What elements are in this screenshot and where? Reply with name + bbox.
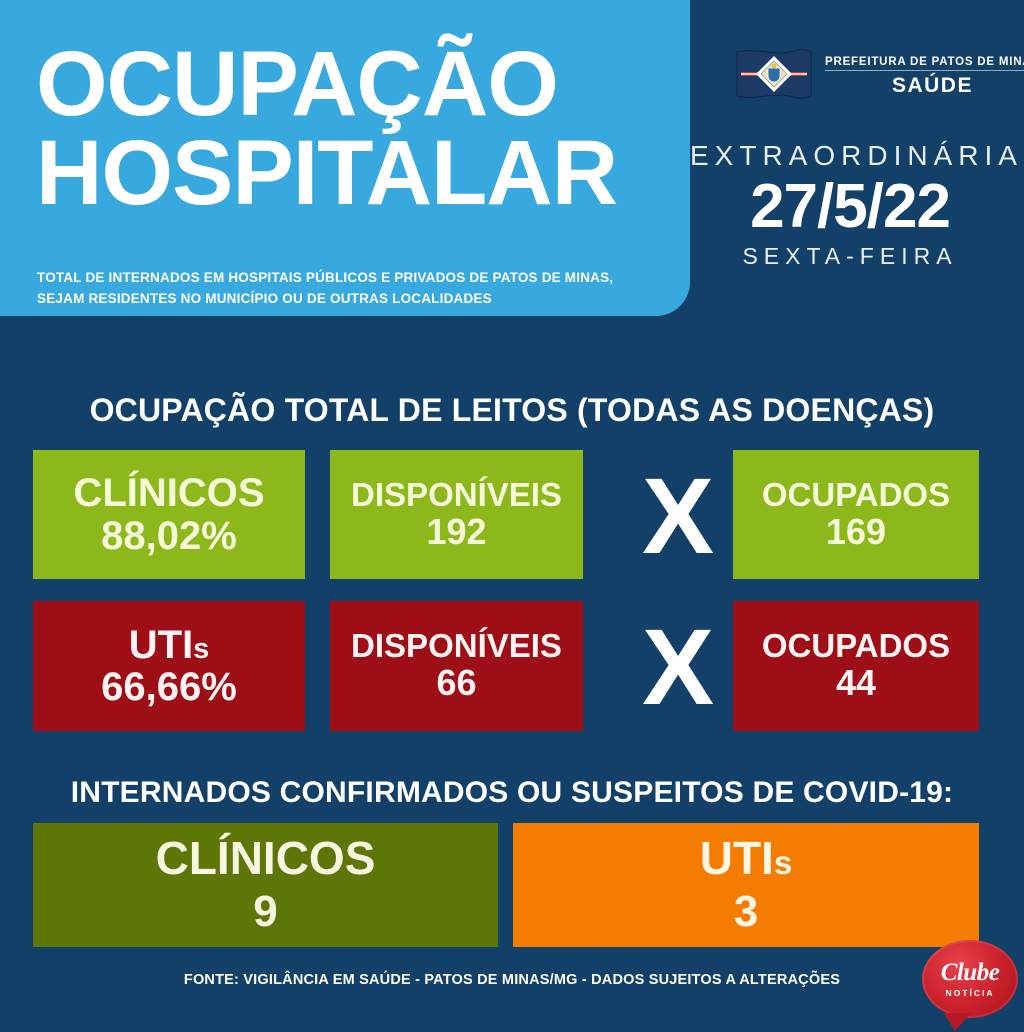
brand-organization: PREFEITURA DE PATOS DE MINAS <box>825 56 1024 71</box>
clinical-occupied-value: 169 <box>826 513 886 551</box>
stat-box-covid-clinical: CLÍNICOS 9 <box>33 823 498 947</box>
stat-box-icu-available: DISPONÍVEIS 66 <box>330 601 583 731</box>
covid-clinical-label: CLÍNICOS <box>156 834 376 883</box>
page-title-line-1: OCUPAÇÃO <box>36 40 676 129</box>
icu-available-value: 66 <box>436 664 476 702</box>
watermark-tagline: NOTÍCIA <box>946 988 995 998</box>
covid-icu-value: 3 <box>734 889 758 936</box>
bulletin-date-block: EXTRAORDINÁRIA 27/5/22 SEXTA-FEIRA <box>690 140 1010 270</box>
covid-icu-label-main: UTI <box>700 832 774 884</box>
clube-noticia-watermark: Clube NOTÍCIA <box>922 940 1018 1032</box>
clinical-label: CLÍNICOS <box>73 472 264 514</box>
stat-box-icu-occupancy: UTIs 66,66% <box>33 601 305 731</box>
covid-icu-label: UTIs <box>700 834 793 883</box>
page-subtitle-line-2: SEJAM RESIDENTES NO MUNICÍPIO OU DE OUTR… <box>37 289 657 310</box>
bulletin-kind: EXTRAORDINÁRIA <box>690 140 1010 172</box>
section-heading-total-beds: OCUPAÇÃO TOTAL DE LEITOS (TODAS AS DOENÇ… <box>0 392 1024 429</box>
page-title: OCUPAÇÃO HOSPITALAR <box>36 40 676 218</box>
stat-box-clinical-occupancy: CLÍNICOS 88,02% <box>33 450 305 579</box>
versus-separator-clinical: X <box>618 462 738 570</box>
stat-box-clinical-occupied: OCUPADOS 169 <box>733 450 979 579</box>
icu-occupied-value: 44 <box>836 664 876 702</box>
page-subtitle: TOTAL DE INTERNADOS EM HOSPITAIS PÚBLICO… <box>37 268 657 310</box>
page-title-line-2: HOSPITALAR <box>36 129 676 218</box>
clinical-available-label: DISPONÍVEIS <box>351 478 562 513</box>
patos-de-minas-flag-icon <box>735 46 813 108</box>
page-subtitle-line-1: TOTAL DE INTERNADOS EM HOSPITAIS PÚBLICO… <box>37 268 657 289</box>
brand-text: PREFEITURA DE PATOS DE MINAS SAÚDE <box>825 56 1024 98</box>
stat-box-clinical-available: DISPONÍVEIS 192 <box>330 450 583 579</box>
icu-available-label: DISPONÍVEIS <box>351 629 562 664</box>
icu-label-suffix: s <box>193 633 209 665</box>
clinical-occupied-label: OCUPADOS <box>762 478 950 513</box>
source-note: FONTE: VIGILÂNCIA EM SAÚDE - PATOS DE MI… <box>0 972 1024 988</box>
bulletin-date: 27/5/22 <box>690 174 1010 239</box>
bulletin-weekday: SEXTA-FEIRA <box>690 243 1010 270</box>
stat-box-covid-icu: UTIs 3 <box>513 823 979 947</box>
watermark-name: Clube <box>941 960 1000 985</box>
section-heading-covid: INTERNADOS CONFIRMADOS OU SUSPEITOS DE C… <box>0 776 1024 810</box>
stat-box-icu-occupied: OCUPADOS 44 <box>733 601 979 731</box>
brand-lockup: PREFEITURA DE PATOS DE MINAS SAÚDE <box>735 46 1024 108</box>
covid-clinical-value: 9 <box>253 889 277 936</box>
speech-bubble-icon: Clube NOTÍCIA <box>922 940 1018 1018</box>
header-panel: OCUPAÇÃO HOSPITALAR TOTAL DE INTERNADOS … <box>0 0 690 316</box>
icu-label-main: UTI <box>129 623 193 667</box>
brand-department: SAÚDE <box>892 74 973 98</box>
clinical-occupancy-rate: 88,02% <box>101 515 237 557</box>
covid-icu-label-suffix: s <box>774 845 792 882</box>
icu-label: UTIs <box>129 624 209 666</box>
icu-occupied-label: OCUPADOS <box>762 629 950 664</box>
icu-occupancy-rate: 66,66% <box>101 666 237 708</box>
infographic-root: OCUPAÇÃO HOSPITALAR TOTAL DE INTERNADOS … <box>0 0 1024 1024</box>
versus-separator-icu: X <box>618 613 738 721</box>
clinical-available-value: 192 <box>426 513 486 551</box>
